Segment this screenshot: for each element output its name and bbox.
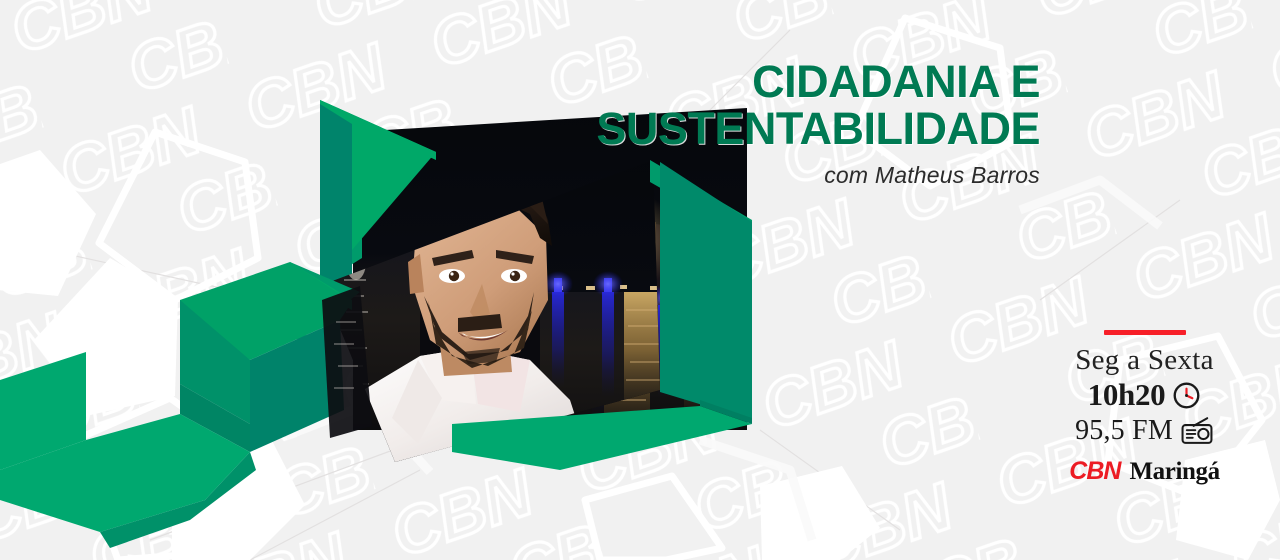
radio-program-banner: CBN CBN (0, 0, 1280, 560)
green-cube-lower-left (0, 262, 360, 548)
program-title-line-1: CIDADANIA E (430, 58, 1040, 105)
program-host-subtitle: com Matheus Barros (430, 162, 1040, 189)
schedule-time-row: 10h20 (1042, 377, 1247, 413)
schedule-days-label: Seg a Sexta (1042, 343, 1247, 377)
radio-icon (1180, 416, 1214, 446)
program-title-block: CIDADANIA E SUSTENTABILIDADE com Matheus… (430, 58, 1040, 189)
station-logo-cbn: CBN (1069, 457, 1120, 486)
schedule-frequency-row: 95,5 FM (1042, 413, 1247, 449)
station-logo: CBN Maringá (1042, 457, 1247, 486)
schedule-time-label: 10h20 (1088, 377, 1166, 413)
schedule-frequency-label: 95,5 FM (1075, 413, 1173, 449)
station-logo-city: Maringá (1129, 458, 1219, 486)
red-divider-rule (1104, 330, 1186, 335)
program-title-line-2: SUSTENTABILIDADE (430, 105, 1040, 152)
schedule-info-block: Seg a Sexta 10h20 95,5 FM (1042, 330, 1247, 486)
clock-icon (1172, 381, 1201, 410)
